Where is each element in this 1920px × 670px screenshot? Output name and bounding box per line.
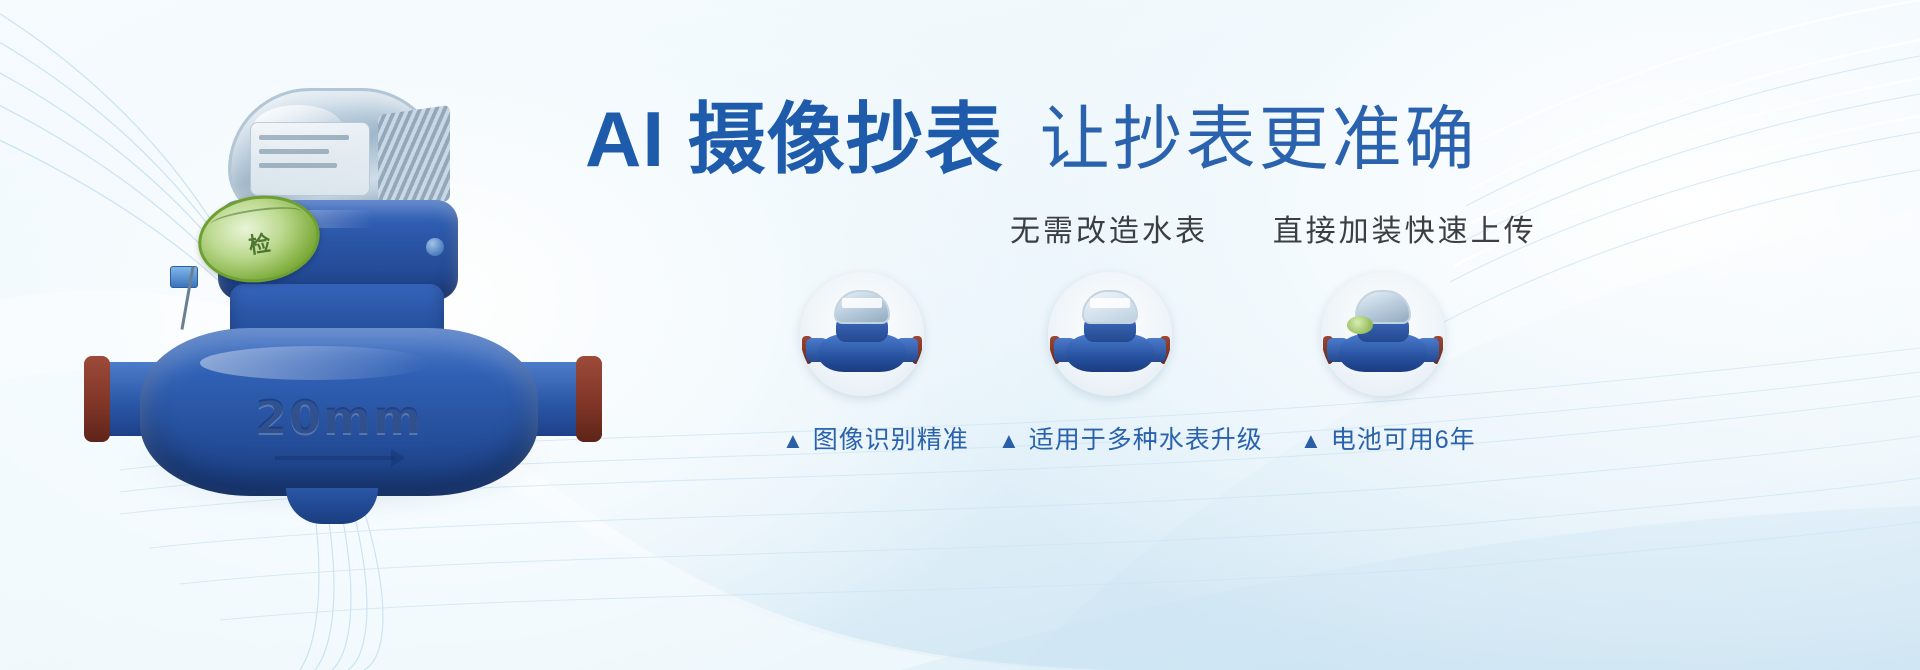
feature-thumb-2: [1048, 272, 1172, 396]
feature-caption-2: ▲适用于多种水表升级: [998, 420, 1263, 456]
headline-secondary: 让抄表更准确: [1040, 100, 1478, 178]
meter-screw: [426, 238, 444, 256]
triangle-marker-icon: ▲: [782, 428, 805, 453]
hero-product-image: 20mm 检: [78, 70, 598, 530]
seal-text: 检: [200, 219, 319, 267]
feature-caption-3-label: 电池可用6年: [1331, 426, 1476, 454]
meter-gasket-left: [84, 356, 110, 442]
triangle-marker-icon: ▲: [1300, 428, 1323, 453]
promo-banner: 20mm 检 AI 摄像抄表让抄表更准确 无需改造水表 直接加装快速上传: [0, 0, 1920, 670]
meter-dial: [250, 122, 370, 196]
subline-right: 直接加装快速上传: [1273, 215, 1537, 248]
meter-body: 20mm: [140, 328, 538, 496]
meter-size-emboss: 20mm: [140, 390, 538, 444]
feature-caption-1-label: 图像识别精准: [813, 426, 969, 454]
meter-coil: [378, 105, 450, 211]
subline: 无需改造水表 直接加装快速上传: [1010, 206, 1537, 250]
copy-block: AI 摄像抄表让抄表更准确 无需改造水表 直接加装快速上传: [585, 0, 1905, 670]
feature-caption-2-label: 适用于多种水表升级: [1029, 426, 1263, 454]
flow-arrow-icon: [275, 456, 395, 460]
feature-thumb-1: [800, 272, 924, 396]
headline: AI 摄像抄表让抄表更准确: [585, 100, 1885, 178]
triangle-marker-icon: ▲: [998, 428, 1021, 453]
feature-caption-1: ▲图像识别精准: [782, 420, 969, 456]
feature-caption-3: ▲电池可用6年: [1300, 420, 1476, 456]
headline-primary: AI 摄像抄表: [585, 95, 1004, 183]
feature-captions: ▲图像识别精准 ▲适用于多种水表升级 ▲电池可用6年: [585, 420, 1885, 466]
subline-left: 无需改造水表: [1010, 215, 1208, 248]
feature-thumb-3: [1321, 272, 1445, 396]
